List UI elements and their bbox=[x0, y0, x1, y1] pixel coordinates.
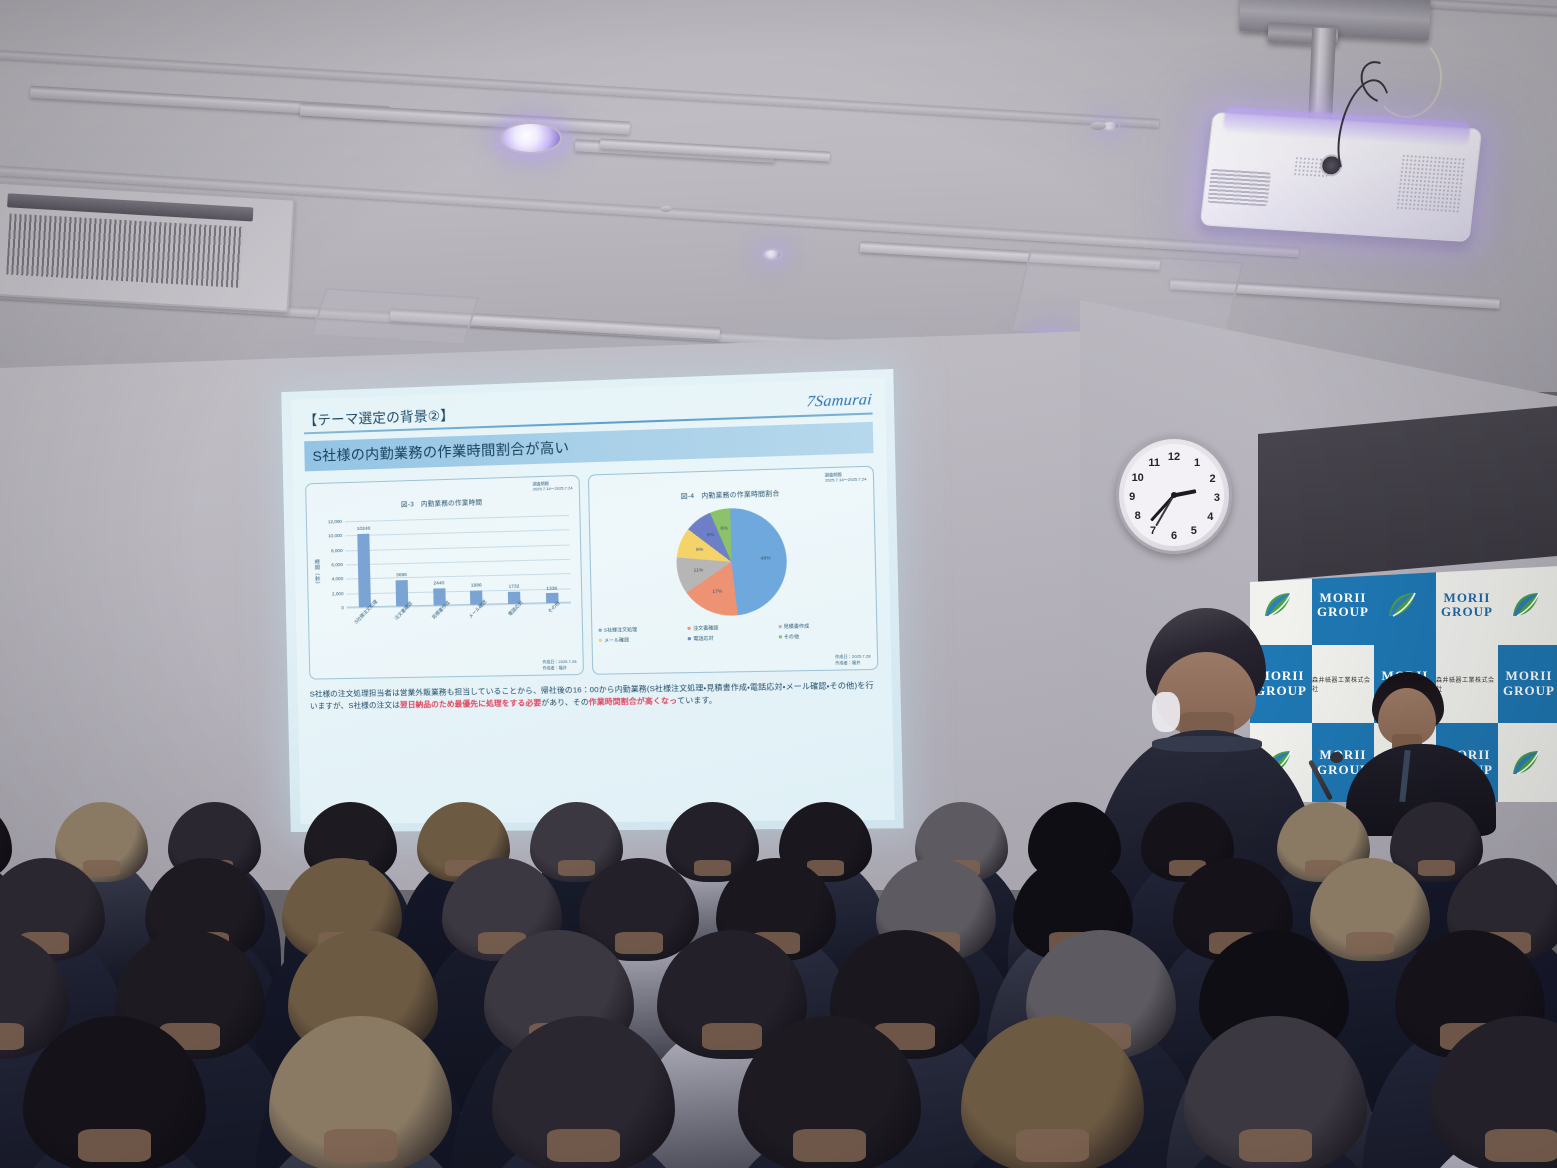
pie-legend-item: 電話応対 bbox=[688, 633, 779, 642]
audience-neck bbox=[324, 1129, 397, 1162]
pie-slice-label: 6% bbox=[721, 527, 728, 532]
conference-room-photo: 12 1 2 3 4 5 6 7 8 9 10 11 MORIIGROUPMOR… bbox=[0, 0, 1557, 1168]
bar-chart-column: 2440見積書作成 bbox=[419, 518, 458, 606]
audience-member bbox=[738, 1016, 921, 1168]
banner-brand-line1: MORII bbox=[1444, 591, 1491, 606]
banner-brand-line1: MORII bbox=[1506, 669, 1553, 684]
audience-neck bbox=[0, 1023, 24, 1050]
slot-diffuser bbox=[300, 103, 630, 135]
audience-neck bbox=[547, 1129, 620, 1162]
audience-member bbox=[1184, 1016, 1367, 1168]
banner-brand-line2: GROUP bbox=[1503, 684, 1555, 699]
audience-neck bbox=[1239, 1129, 1312, 1162]
banner-tile: MORIIGROUP bbox=[1436, 566, 1498, 645]
slide-body-text-run: があり、その bbox=[541, 698, 589, 708]
audience-member bbox=[1430, 1016, 1557, 1168]
pie-chart-panel: 調査期間 2025.7.14〜2025.7.24 図-4 内勤業務の作業時間割合… bbox=[588, 466, 879, 675]
face-mask bbox=[1152, 692, 1180, 732]
pie-legend-swatch bbox=[688, 637, 691, 640]
bar-value-label: 1986 bbox=[471, 584, 482, 589]
slide-body-highlight: 翌日納品のため最優先に処理をする必要 bbox=[400, 698, 542, 709]
pie-legend-swatch bbox=[778, 625, 781, 628]
seven-samurai-logo: 7Samurai bbox=[806, 392, 873, 412]
clock-numeral: 6 bbox=[1171, 530, 1177, 542]
downlight-icon bbox=[762, 248, 782, 261]
pie-chart-period: 調査期間 2025.7.14〜2025.7.24 bbox=[825, 471, 867, 483]
audience-member bbox=[269, 1016, 452, 1168]
pie-legend-label: メール確認 bbox=[604, 636, 629, 644]
audience-neck bbox=[1346, 932, 1394, 954]
bar-value-label: 2440 bbox=[433, 581, 444, 586]
bar-chart-ylabel: 時間（秒） bbox=[314, 558, 322, 587]
clock-numeral: 5 bbox=[1191, 525, 1197, 537]
bar-chart-panel: 調査期間 2025.7.14〜2025.7.24 図-3 内勤業務の作業時間 時… bbox=[305, 475, 584, 680]
slide-body-text-run: ています。 bbox=[677, 696, 717, 706]
pie-legend-swatch bbox=[599, 639, 602, 642]
air-conditioner-cassette bbox=[0, 181, 295, 312]
bar-chart-column: 3696注文書確認 bbox=[382, 519, 421, 607]
microphone-head-icon bbox=[1330, 752, 1343, 763]
morii-leaf-logo-icon bbox=[1498, 566, 1557, 645]
banner-brand-line2: GROUP bbox=[1317, 605, 1369, 620]
audience-neck bbox=[793, 1129, 866, 1162]
smoke-detector-icon bbox=[660, 206, 672, 212]
bar-chart-ytick: 12,000 bbox=[328, 519, 342, 524]
banner-brand-text: MORIIGROUP bbox=[1436, 566, 1498, 645]
audience-neck bbox=[1485, 1129, 1557, 1162]
audience-member bbox=[23, 1016, 206, 1168]
pie-legend-item: S社様注文処理 bbox=[599, 625, 688, 634]
dark-wall-panel bbox=[1258, 406, 1557, 582]
bar-chart-ytick: 8,000 bbox=[331, 548, 343, 553]
clock-numeral: 11 bbox=[1148, 457, 1160, 469]
bar-chart-ytick: 6,000 bbox=[331, 562, 343, 567]
bar-chart-column: 1986メール確認 bbox=[456, 517, 495, 605]
banner-brand-line2: GROUP bbox=[1441, 605, 1493, 620]
pie-slice-label: 11% bbox=[694, 568, 704, 573]
audience-neck bbox=[78, 1129, 151, 1162]
slide-header-title: 【テーマ選定の背景②】 bbox=[304, 404, 455, 430]
clock-numeral: 2 bbox=[1209, 473, 1215, 485]
bar-chart-ytick: 4,000 bbox=[332, 576, 344, 581]
pie-chart-legend: S社様注文処理注文書確認見積書作成メール確認電話応対その他 bbox=[599, 621, 871, 647]
pie-slice-label: 9% bbox=[696, 547, 703, 552]
bar-value-label: 3696 bbox=[396, 573, 407, 578]
pie-legend-item: メール確認 bbox=[599, 635, 688, 644]
audience-member bbox=[492, 1016, 675, 1168]
slide-content: 【テーマ選定の背景②】 7Samurai S社様の内勤業務の作業時間割合が高い … bbox=[291, 378, 894, 824]
ceiling-access-hatch bbox=[311, 288, 480, 345]
audience-neck bbox=[1016, 1129, 1089, 1162]
downlight-icon bbox=[500, 122, 562, 154]
smoke-detector-icon bbox=[1090, 122, 1106, 130]
audience-member bbox=[961, 1016, 1144, 1168]
clock-numeral: 12 bbox=[1168, 451, 1180, 463]
pie-legend-item: 注文書確認 bbox=[688, 623, 779, 632]
banner-tile: MORIIGROUP bbox=[1498, 645, 1557, 724]
banner-tile bbox=[1498, 566, 1557, 645]
pie-legend-label: 見積書作成 bbox=[783, 622, 809, 630]
pie-legend-label: 注文書確認 bbox=[693, 624, 718, 632]
bar-chart-footer: 作成日：2025.7.28 作成者：福井 bbox=[542, 659, 576, 670]
bar-chart-ytick: 0 bbox=[341, 605, 344, 610]
clock-numeral: 7 bbox=[1150, 525, 1156, 537]
clock-numeral: 3 bbox=[1214, 492, 1220, 504]
bar-value-label: 1336 bbox=[546, 587, 557, 592]
slide-body-highlight: 作業時間割合が高くなっ bbox=[589, 696, 678, 707]
pie-legend-label: S社様注文処理 bbox=[604, 626, 638, 634]
pie-slice-label: 48% bbox=[760, 557, 770, 562]
pie-legend-item: 見積書作成 bbox=[778, 621, 870, 630]
bar-chart-ytick: 10,000 bbox=[328, 533, 342, 538]
bar-value-label: 10248 bbox=[357, 527, 371, 532]
clock-numeral: 10 bbox=[1132, 472, 1144, 484]
bar-chart-ytick: 2,000 bbox=[332, 591, 344, 596]
clock-numeral: 1 bbox=[1194, 457, 1200, 469]
projection-screen: 【テーマ選定の背景②】 7Samurai S社様の内勤業務の作業時間割合が高い … bbox=[281, 369, 903, 832]
pie-chart-footer: 作成日：2025.7.28 作成者：福井 bbox=[835, 654, 871, 666]
pie-legend-label: その他 bbox=[784, 633, 800, 641]
wall-clock: 12 1 2 3 4 5 6 7 8 9 10 11 bbox=[1116, 436, 1232, 554]
bar bbox=[358, 533, 371, 607]
pie-legend-item: その他 bbox=[778, 632, 870, 641]
clock-numeral: 8 bbox=[1135, 510, 1141, 522]
clock-numeral: 9 bbox=[1129, 491, 1135, 503]
banner-tile bbox=[1374, 566, 1436, 645]
clock-numeral: 4 bbox=[1207, 511, 1213, 523]
pie-legend-label: 電話応対 bbox=[693, 635, 713, 643]
bar-chart-column: 1336その他 bbox=[531, 515, 571, 604]
bar-value-label: 1732 bbox=[508, 585, 519, 590]
pie-slice-label: 8% bbox=[707, 533, 714, 538]
morii-leaf-logo-icon bbox=[1374, 566, 1436, 645]
pie-chart-circle: 48%17%11%9%8%6% bbox=[675, 507, 788, 617]
pie-legend-swatch bbox=[688, 627, 691, 630]
banner-brand-line1: MORII bbox=[1320, 591, 1367, 606]
pie-slice-label: 17% bbox=[712, 590, 722, 595]
slide-body-text: S社様の注文処理担当者は営業外販業務も担当していることから、帰社後の16：00か… bbox=[310, 679, 880, 713]
bar-chart-column: 1732電話応対 bbox=[494, 516, 534, 604]
bar-chart-title: 図-3 内勤業務の作業時間 bbox=[312, 493, 572, 511]
banner-brand-text: MORIIGROUP bbox=[1498, 645, 1557, 724]
bar-chart-period: 調査期間 2025.7.14〜2025.7.24 bbox=[533, 480, 573, 492]
audience-rows bbox=[0, 780, 1557, 1168]
pie-legend-swatch bbox=[778, 635, 781, 638]
bar-chart-column: 10248S社様注文処理 bbox=[345, 520, 384, 607]
pie-legend-swatch bbox=[599, 629, 602, 632]
